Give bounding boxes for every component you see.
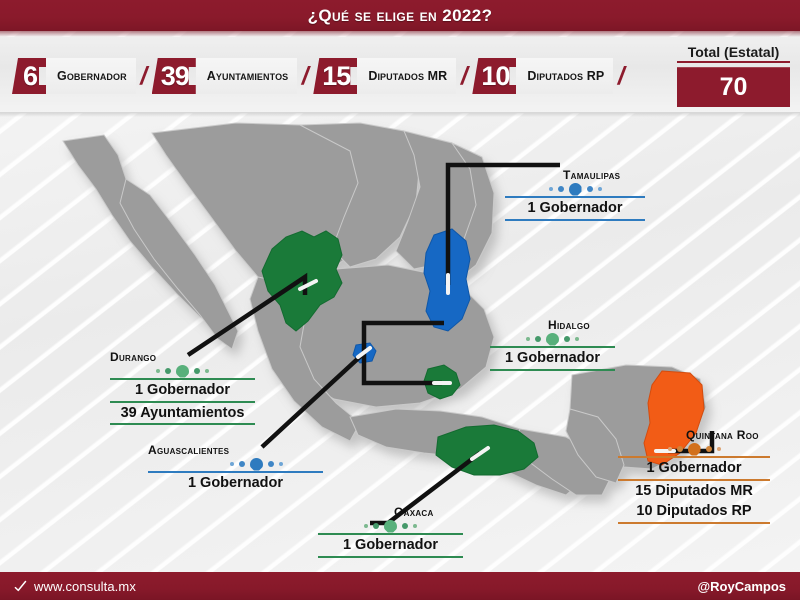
total-value: 70 bbox=[677, 67, 790, 107]
hex-marker-icon bbox=[384, 520, 397, 533]
summary-count-diputados-rp: 10 bbox=[472, 58, 516, 94]
dot-small-left-inner bbox=[558, 186, 564, 192]
callout-rule-bottom-oaxaca bbox=[318, 556, 463, 558]
summary-separator-4: / bbox=[613, 58, 629, 94]
callout-name-aguascalientes: Aguascalientes bbox=[148, 443, 323, 457]
dot-small-left-inner bbox=[239, 461, 245, 467]
summary-separator-2: / bbox=[297, 58, 313, 94]
dot-small-left-inner bbox=[535, 336, 541, 342]
callout-tamaulipas: Tamaulipas 1 Gobernador bbox=[505, 168, 645, 221]
dot-small-right-inner bbox=[194, 368, 200, 374]
footer-site[interactable]: www.consulta.mx bbox=[34, 579, 136, 594]
callout-dots-tamaulipas bbox=[505, 182, 645, 196]
callout-rule-bottom-tamaulipas bbox=[505, 219, 645, 221]
page-title: ¿Qué se elige en 2022? bbox=[308, 6, 493, 26]
callout-value-tamaulipas-0: 1 Gobernador bbox=[505, 198, 645, 219]
dot-small-right-inner bbox=[402, 523, 408, 529]
dot-small-right-inner bbox=[587, 186, 593, 192]
summary-label-diputados-mr: Diputados MR bbox=[357, 58, 456, 94]
dot-small-right-inner bbox=[706, 446, 712, 452]
dot-small-right-outer bbox=[413, 524, 417, 528]
dot-small-right-outer bbox=[575, 337, 579, 341]
callout-rule-bottom-durango bbox=[110, 423, 255, 425]
dot-small-right-outer bbox=[717, 447, 721, 451]
dot-small-right-outer bbox=[205, 369, 209, 373]
total-block: Total (Estatal) 70 bbox=[677, 44, 790, 107]
summary-label-diputados-rp: Diputados RP bbox=[516, 58, 613, 94]
dot-small-right-outer bbox=[279, 462, 283, 466]
hex-marker-icon bbox=[250, 458, 263, 471]
summary-item-gobernador: 6 Gobernador bbox=[12, 58, 136, 94]
callout-rule-bottom-hidalgo bbox=[490, 369, 615, 371]
callout-rule-bottom-quintanaroo bbox=[618, 522, 770, 524]
dot-small-left-outer bbox=[364, 524, 368, 528]
callout-name-hidalgo: Hidalgo bbox=[548, 318, 615, 332]
callout-value-durango-1: 39 Ayuntamientos bbox=[110, 403, 255, 424]
summary-label-ayuntamientos: Ayuntamientos bbox=[196, 58, 298, 94]
dot-small-left-inner bbox=[373, 523, 379, 529]
dot-small-left-outer bbox=[230, 462, 234, 466]
callout-value-aguascalientes-0: 1 Gobernador bbox=[148, 473, 323, 494]
callout-value-quintanaroo-0: 1 Gobernador bbox=[618, 458, 770, 479]
dot-small-left-outer bbox=[526, 337, 530, 341]
total-caption: Total (Estatal) bbox=[677, 44, 790, 63]
summary-item-diputados-mr: 15 Diputados MR bbox=[313, 58, 456, 94]
footer-handle[interactable]: @RoyCampos bbox=[697, 579, 786, 594]
callout-value-durango-0: 1 Gobernador bbox=[110, 380, 255, 401]
dot-small-left-inner bbox=[165, 368, 171, 374]
summary-count-ayuntamientos: 39 bbox=[152, 58, 196, 94]
dot-small-right-inner bbox=[564, 336, 570, 342]
hex-marker-icon bbox=[546, 333, 559, 346]
callout-name-quintanaroo: Quintana Roo bbox=[686, 428, 770, 442]
check-icon bbox=[14, 580, 27, 593]
infographic-canvas: ¿Qué se elige en 2022? 6 Gobernador / 39… bbox=[0, 0, 800, 600]
dot-small-left-outer bbox=[156, 369, 160, 373]
callout-value-quintanaroo-2: 10 Diputados RP bbox=[618, 501, 770, 522]
callout-dots-durango bbox=[110, 364, 255, 378]
dot-small-right-outer bbox=[598, 187, 602, 191]
callout-aguascalientes: Aguascalientes 1 Gobernador bbox=[148, 443, 323, 494]
hex-marker-icon bbox=[569, 183, 582, 196]
dot-small-right-inner bbox=[268, 461, 274, 467]
callout-dots-hidalgo bbox=[490, 332, 615, 346]
callout-name-durango: Durango bbox=[110, 350, 255, 364]
callout-value-hidalgo-0: 1 Gobernador bbox=[490, 348, 615, 369]
summary-separator-1: / bbox=[136, 58, 152, 94]
dot-small-left-outer bbox=[668, 447, 672, 451]
callout-name-oaxaca: Oaxaca bbox=[394, 505, 463, 519]
hex-marker-icon bbox=[688, 443, 701, 456]
summary-count-diputados-mr: 15 bbox=[313, 58, 357, 94]
callout-name-tamaulipas: Tamaulipas bbox=[563, 168, 645, 182]
summary-item-diputados-rp: 10 Diputados RP bbox=[472, 58, 613, 94]
footer-bar: www.consulta.mx @RoyCampos bbox=[0, 572, 800, 600]
callout-dots-quintanaroo bbox=[618, 442, 770, 456]
callout-value-quintanaroo-1: 15 Diputados MR bbox=[618, 481, 770, 502]
callout-dots-oaxaca bbox=[318, 519, 463, 533]
summary-count-gobernador: 6 bbox=[12, 58, 46, 94]
hex-marker-icon bbox=[176, 365, 189, 378]
title-bar: ¿Qué se elige en 2022? bbox=[0, 0, 800, 31]
callout-quintanaroo: Quintana Roo 1 Gobernador 15 Diputados M… bbox=[618, 428, 770, 524]
dot-small-left-outer bbox=[549, 187, 553, 191]
dot-small-left-inner bbox=[677, 446, 683, 452]
callout-dots-aguascalientes bbox=[190, 457, 323, 471]
summary-label-gobernador: Gobernador bbox=[46, 58, 136, 94]
callout-hidalgo: Hidalgo 1 Gobernador bbox=[490, 318, 615, 371]
callout-value-oaxaca-0: 1 Gobernador bbox=[318, 535, 463, 556]
summary-item-ayuntamientos: 39 Ayuntamientos bbox=[152, 58, 298, 94]
summary-items: 6 Gobernador / 39 Ayuntamientos / 15 Dip… bbox=[12, 58, 629, 94]
summary-separator-3: / bbox=[456, 58, 472, 94]
callout-durango: Durango 1 Gobernador 39 Ayuntamientos bbox=[110, 350, 255, 425]
callout-oaxaca: Oaxaca 1 Gobernador bbox=[318, 505, 463, 558]
